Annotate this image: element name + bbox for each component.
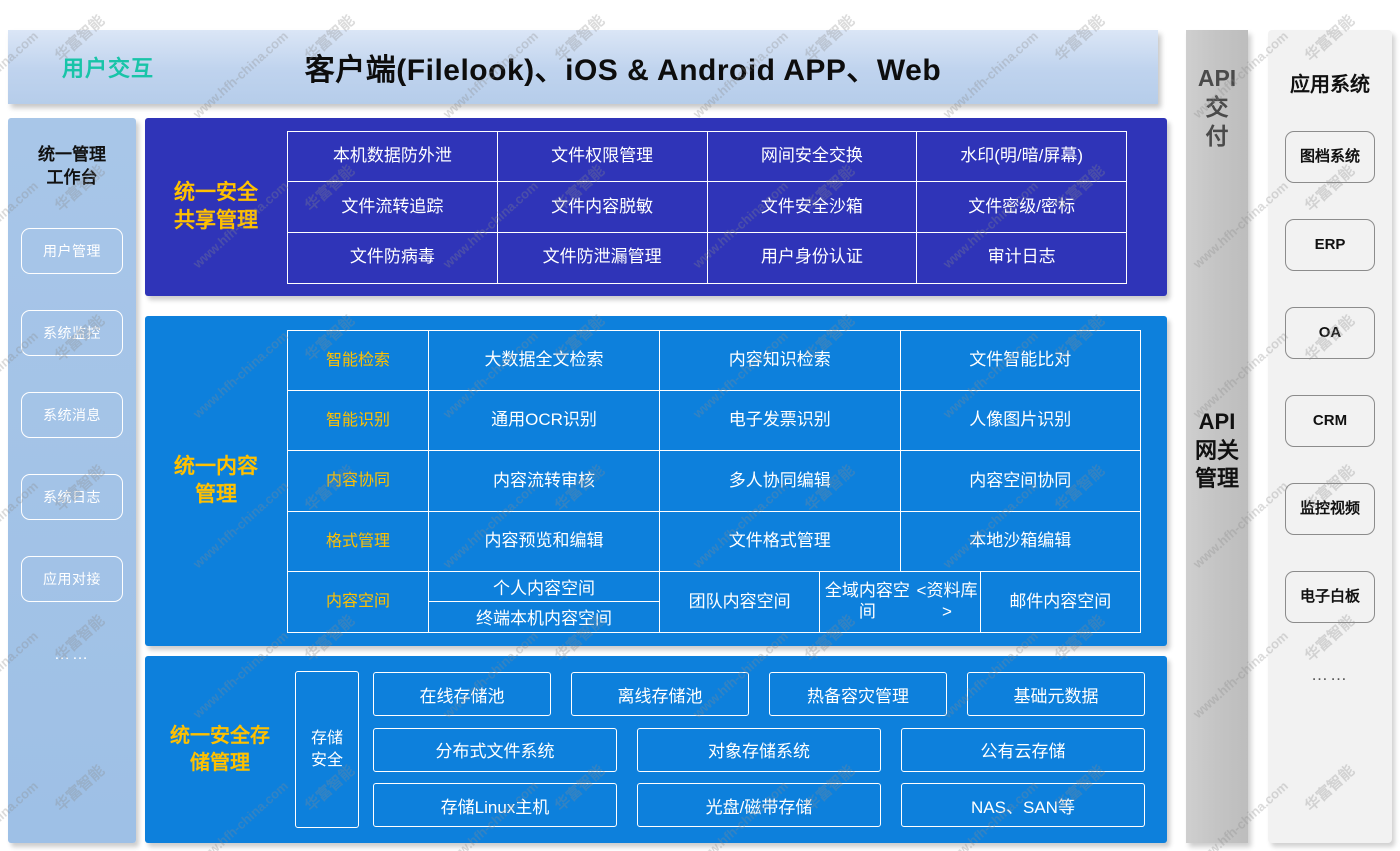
application-system-box[interactable]: CRM <box>1285 395 1375 447</box>
content-cell[interactable]: 内容空间协同 <box>901 451 1142 511</box>
content-category-label[interactable]: 内容协同 <box>288 451 429 511</box>
security-cell[interactable]: 文件防泄漏管理 <box>498 233 708 284</box>
unified-secure-sharing-panel: 统一安全 共享管理 本机数据防外泄文件权限管理网间安全交换水印(明/暗/屏幕)文… <box>145 118 1167 296</box>
security-cell[interactable]: 文件防病毒 <box>288 233 498 284</box>
storage-box[interactable]: 光盘/磁带存储 <box>637 783 881 827</box>
security-cell[interactable]: 文件权限管理 <box>498 132 708 183</box>
user-interaction-bar: 用户交互 客户端(Filelook)、iOS & Android APP、Web <box>8 30 1158 104</box>
content-cell[interactable]: 团队内容空间 <box>660 572 820 632</box>
content-feature-grid: 智能检索大数据全文检索内容知识检索文件智能比对智能识别通用OCR识别电子发票识别… <box>287 330 1141 633</box>
content-row: 内容协同内容流转审核多人协同编辑内容空间协同 <box>288 451 1141 511</box>
unified-content-management-panel: 统一内容 管理 智能检索大数据全文检索内容知识检索文件智能比对智能识别通用OCR… <box>145 316 1167 646</box>
security-cell[interactable]: 水印(明/暗/屏幕) <box>917 132 1127 183</box>
application-system-box[interactable]: 图档系统 <box>1285 131 1375 183</box>
application-system-box[interactable]: 监控视频 <box>1285 483 1375 535</box>
console-item-list: 用户管理 系统监控 系统消息 系统日志 应用对接 …… <box>8 228 136 664</box>
storage-box[interactable]: 基础元数据 <box>967 672 1145 716</box>
secure-storage-title: 统一安全存 储管理 <box>145 723 295 776</box>
security-cell[interactable]: 审计日志 <box>917 233 1127 284</box>
storage-box[interactable]: 公有云存储 <box>901 728 1145 772</box>
content-cell[interactable]: 多人协同编辑 <box>660 451 901 511</box>
sidebar-item-system-monitor[interactable]: 系统监控 <box>21 310 123 356</box>
content-cell[interactable]: 文件格式管理 <box>660 512 901 572</box>
content-cell[interactable]: 个人内容空间 <box>429 572 659 602</box>
secure-sharing-title: 统一安全 共享管理 <box>145 179 287 234</box>
security-cell[interactable]: 网间安全交换 <box>708 132 918 183</box>
api-gateway-management-label: API 网关 管理 <box>1186 408 1248 494</box>
content-category-label[interactable]: 智能检索 <box>288 331 429 391</box>
sidebar-more-indicator: …… <box>54 646 90 664</box>
application-systems-panel: 应用系统 图档系统ERPOACRM监控视频电子白板…… <box>1268 30 1392 843</box>
content-cell[interactable]: 全域内容空间<资料库> <box>820 572 980 632</box>
content-cell[interactable]: 电子发票识别 <box>660 391 901 451</box>
unified-management-console: 统一管理 工作台 用户管理 系统监控 系统消息 系统日志 应用对接 …… <box>8 118 136 843</box>
client-platforms-title: 客户端(Filelook)、iOS & Android APP、Web <box>208 45 1158 89</box>
storage-security-box: 存储 安全 <box>295 671 359 828</box>
storage-box[interactable]: 存储Linux主机 <box>373 783 617 827</box>
storage-row: 分布式文件系统对象存储系统公有云存储 <box>373 728 1145 772</box>
content-row: 智能识别通用OCR识别电子发票识别人像图片识别 <box>288 391 1141 451</box>
content-management-title: 统一内容 管理 <box>145 453 287 508</box>
content-cell[interactable]: 内容知识检索 <box>660 331 901 391</box>
content-cell[interactable]: 本地沙箱编辑 <box>901 512 1142 572</box>
api-gateway-column: API 交 付 API 网关 管理 <box>1186 30 1248 843</box>
sidebar-item-system-log[interactable]: 系统日志 <box>21 474 123 520</box>
storage-row-group: 在线存储池离线存储池热备容灾管理基础元数据分布式文件系统对象存储系统公有云存储存… <box>373 672 1145 827</box>
content-cell[interactable]: 内容预览和编辑 <box>429 512 660 572</box>
content-cell[interactable]: 文件智能比对 <box>901 331 1142 391</box>
storage-box[interactable]: 离线存储池 <box>571 672 749 716</box>
security-cell[interactable]: 文件密级/密标 <box>917 182 1127 233</box>
storage-row: 在线存储池离线存储池热备容灾管理基础元数据 <box>373 672 1145 716</box>
security-cell[interactable]: 文件安全沙箱 <box>708 182 918 233</box>
content-row: 智能检索大数据全文检索内容知识检索文件智能比对 <box>288 331 1141 391</box>
application-systems-title: 应用系统 <box>1290 68 1370 97</box>
content-cell[interactable]: 通用OCR识别 <box>429 391 660 451</box>
content-cell[interactable]: 人像图片识别 <box>901 391 1142 451</box>
security-row: 文件流转追踪文件内容脱敏文件安全沙箱文件密级/密标 <box>288 182 1127 233</box>
storage-box[interactable]: 分布式文件系统 <box>373 728 617 772</box>
sidebar-item-app-integration[interactable]: 应用对接 <box>21 556 123 602</box>
api-delivery-label: API 交 付 <box>1186 64 1248 150</box>
storage-box[interactable]: NAS、SAN等 <box>901 783 1145 827</box>
security-cell[interactable]: 文件流转追踪 <box>288 182 498 233</box>
security-cell[interactable]: 本机数据防外泄 <box>288 132 498 183</box>
application-system-box[interactable]: OA <box>1285 307 1375 359</box>
content-category-label[interactable]: 格式管理 <box>288 512 429 572</box>
storage-box[interactable]: 在线存储池 <box>373 672 551 716</box>
application-system-box[interactable]: 电子白板 <box>1285 571 1375 623</box>
security-cell[interactable]: 文件内容脱敏 <box>498 182 708 233</box>
security-row: 本机数据防外泄文件权限管理网间安全交换水印(明/暗/屏幕) <box>288 132 1127 183</box>
unified-secure-storage-panel: 统一安全存 储管理 存储 安全 在线存储池离线存储池热备容灾管理基础元数据分布式… <box>145 656 1167 843</box>
content-space-split-cell: 个人内容空间终端本机内容空间 <box>429 572 660 632</box>
application-systems-list: 图档系统ERPOACRM监控视频电子白板…… <box>1268 131 1392 685</box>
sidebar-item-system-message[interactable]: 系统消息 <box>21 392 123 438</box>
storage-row: 存储Linux主机光盘/磁带存储NAS、SAN等 <box>373 783 1145 827</box>
content-cell[interactable]: 终端本机内容空间 <box>429 602 659 631</box>
content-category-label[interactable]: 内容空间 <box>288 572 429 632</box>
sidebar-item-user-management[interactable]: 用户管理 <box>21 228 123 274</box>
application-more-indicator: …… <box>1311 665 1349 685</box>
console-title: 统一管理 工作台 <box>38 144 106 190</box>
storage-box[interactable]: 对象存储系统 <box>637 728 881 772</box>
security-row: 文件防病毒文件防泄漏管理用户身份认证审计日志 <box>288 233 1127 284</box>
content-space-row: 内容空间个人内容空间终端本机内容空间团队内容空间全域内容空间<资料库>邮件内容空… <box>288 572 1141 632</box>
user-interaction-label: 用户交互 <box>8 51 208 83</box>
content-row: 格式管理内容预览和编辑文件格式管理本地沙箱编辑 <box>288 512 1141 572</box>
storage-box[interactable]: 热备容灾管理 <box>769 672 947 716</box>
security-feature-grid: 本机数据防外泄文件权限管理网间安全交换水印(明/暗/屏幕)文件流转追踪文件内容脱… <box>287 131 1127 284</box>
content-cell[interactable]: 内容流转审核 <box>429 451 660 511</box>
content-cell[interactable]: 邮件内容空间 <box>981 572 1141 632</box>
content-category-label[interactable]: 智能识别 <box>288 391 429 451</box>
application-system-box[interactable]: ERP <box>1285 219 1375 271</box>
security-cell[interactable]: 用户身份认证 <box>708 233 918 284</box>
content-cell[interactable]: 大数据全文检索 <box>429 331 660 391</box>
